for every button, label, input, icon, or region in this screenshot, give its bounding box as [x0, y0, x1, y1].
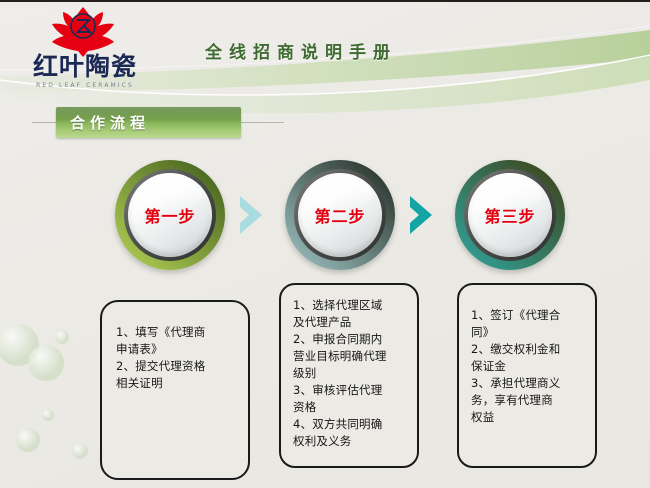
list-item: 资格 — [293, 399, 411, 416]
list-item: 权益 — [471, 409, 589, 426]
list-item: 2、提交代理资格 — [116, 358, 240, 375]
step-detail-list-3: 1、签订《代理合 同》 2、缴交权利金和 保证金 3、承担代理商义 务，享有代理… — [459, 285, 595, 426]
chevron-right-icon-2 — [406, 193, 438, 237]
list-item: 及代理产品 — [293, 314, 411, 331]
list-item: 4、双方共同明确 — [293, 416, 411, 433]
list-item: 相关证明 — [116, 375, 240, 392]
list-item: 3、承担代理商义 — [471, 375, 589, 392]
step-circle-3[interactable]: 第三步 — [455, 160, 565, 270]
slide-canvas: 红叶陶瓷 RED LEAF CERAMICS 全线招商说明手册 合作流程 第一步… — [0, 0, 650, 488]
chevron-right-icon-1 — [236, 193, 268, 237]
red-maple-leaf-logo-icon — [44, 6, 122, 58]
list-item: 权利及义务 — [293, 433, 411, 450]
list-item: 1、填写《代理商 — [116, 324, 240, 341]
list-item: 1、签订《代理合 — [471, 307, 589, 324]
list-item: 级别 — [293, 365, 411, 382]
step-label-2: 第二步 — [285, 160, 395, 270]
maple-leaf-svg — [44, 6, 122, 58]
decorative-bubble — [55, 330, 69, 344]
brand-name-en: RED LEAF CERAMICS — [26, 82, 144, 89]
brand-name-cn: 红叶陶瓷 — [26, 54, 144, 79]
list-item: 申请表》 — [116, 341, 240, 358]
step-circle-1[interactable]: 第一步 — [115, 160, 225, 270]
list-item: 2、申报合同期内 — [293, 331, 411, 348]
step-detail-box-3: 1、签订《代理合 同》 2、缴交权利金和 保证金 3、承担代理商义 务，享有代理… — [457, 283, 597, 468]
list-item: 2、缴交权利金和 — [471, 341, 589, 358]
list-item: 1、选择代理区域 — [293, 297, 411, 314]
step-detail-list-1: 1、填写《代理商 申请表》 2、提交代理资格 相关证明 — [102, 302, 248, 392]
page-title: 全线招商说明手册 — [205, 38, 397, 63]
step-circle-2[interactable]: 第二步 — [285, 160, 395, 270]
decorative-bubble — [42, 409, 54, 421]
decorative-bubble — [28, 345, 64, 381]
brand-logo: 红叶陶瓷 RED LEAF CERAMICS — [18, 6, 148, 98]
section-title: 合作流程 — [70, 112, 150, 133]
chevron-right-svg-1 — [236, 193, 268, 237]
list-item: 营业目标明确代理 — [293, 348, 411, 365]
step-detail-box-2: 1、选择代理区域 及代理产品 2、申报合同期内 营业目标明确代理 级别 3、审核… — [279, 283, 419, 468]
list-item: 同》 — [471, 324, 589, 341]
decorative-bubble — [16, 428, 40, 452]
chevron-right-svg-2 — [406, 193, 438, 237]
list-item: 3、审核评估代理 — [293, 382, 411, 399]
list-item: 务，享有代理商 — [471, 392, 589, 409]
step-label-3: 第三步 — [455, 160, 565, 270]
list-item: 保证金 — [471, 358, 589, 375]
step-label-1: 第一步 — [115, 160, 225, 270]
step-detail-box-1: 1、填写《代理商 申请表》 2、提交代理资格 相关证明 — [100, 300, 250, 480]
decorative-bubble — [72, 443, 88, 459]
step-detail-list-2: 1、选择代理区域 及代理产品 2、申报合同期内 营业目标明确代理 级别 3、审核… — [281, 285, 417, 450]
section-banner: 合作流程 — [56, 107, 241, 138]
